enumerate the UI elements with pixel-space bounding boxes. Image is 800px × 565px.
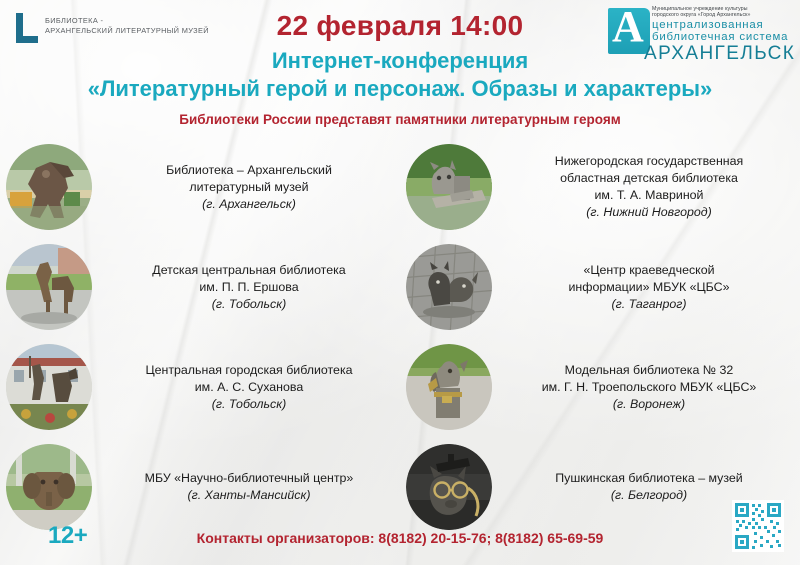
event-date-time: 22 февраля 14:00	[0, 10, 800, 42]
participant-name-line-2: им. Г. Н. Троепольского МБУК «ЦБС»	[504, 379, 794, 396]
participant-city: (г. Ханты-Мансийск)	[104, 487, 394, 504]
participant-caption: «Центр краеведческой информации» МБУК «Ц…	[498, 262, 800, 313]
participant-item: Библиотека – Архангельский литературный …	[0, 137, 400, 237]
qr-code-icon[interactable]	[732, 500, 784, 552]
participant-city: (г. Нижний Новгород)	[504, 204, 794, 221]
participant-name-line-1: Пушкинская библиотека – музей	[504, 470, 794, 487]
monument-elephant-thumb	[6, 444, 92, 530]
event-type-title: Интернет-конференция	[0, 48, 800, 74]
participant-name-line-2: им. П. П. Ершова	[104, 279, 394, 296]
monument-cat-scientist-thumb	[406, 444, 492, 530]
participant-name-line-1: Нижегородская государственная	[504, 153, 794, 170]
participant-name-line-1: Библиотека – Архангельский	[104, 162, 394, 179]
poster-canvas: БИБЛИОТЕКА - АРХАНГЕЛЬСКИЙ ЛИТЕРАТУРНЫЙ …	[0, 0, 800, 565]
participant-caption: Нижегородская государственная областная …	[498, 153, 800, 221]
participant-name-line-2: информации» МБУК «ЦБС»	[504, 279, 794, 296]
participant-city: (г. Тобольск)	[104, 296, 394, 313]
participant-caption: Пушкинская библиотека – музей (г. Белгор…	[498, 470, 800, 504]
participant-city: (г. Тобольск)	[104, 396, 394, 413]
participants-column-right: Нижегородская государственная областная …	[400, 137, 800, 537]
participant-caption: Библиотека – Архангельский литературный …	[98, 162, 400, 213]
participant-name-line-1: МБУ «Научно-библиотечный центр»	[104, 470, 394, 487]
organizer-contacts: Контакты организаторов: 8(8182) 20-15-76…	[0, 530, 800, 546]
participant-name-line-2: им. А. С. Суханова	[104, 379, 394, 396]
participant-caption: МБУ «Научно-библиотечный центр» (г. Хант…	[98, 470, 400, 504]
monument-warrior-thumb	[6, 344, 92, 430]
participant-item: «Центр краеведческой информации» МБУК «Ц…	[400, 237, 800, 337]
participants-grid: Библиотека – Архангельский литературный …	[0, 137, 800, 537]
participant-name-line-3: им. Т. А. Мавриной	[504, 187, 794, 204]
participant-name-line-2: областная детская библиотека	[504, 170, 794, 187]
participant-name-line-1: Модельная библиотека № 32	[504, 362, 794, 379]
participant-item: Детская центральная библиотека им. П. П.…	[0, 237, 400, 337]
participant-name-line-1: Центральная городская библиотека	[104, 362, 394, 379]
participant-item: Модельная библиотека № 32 им. Г. Н. Трое…	[400, 337, 800, 437]
monument-grey-wolf-thumb	[406, 144, 492, 230]
participant-caption: Центральная городская библиотека им. А. …	[98, 362, 400, 413]
participant-caption: Модельная библиотека № 32 им. Г. Н. Трое…	[498, 362, 800, 413]
monument-cat-mouse-thumb	[406, 244, 492, 330]
participant-name-line-2: литературный музей	[104, 179, 394, 196]
monument-gorilla-thumb	[6, 144, 92, 230]
participant-city: (г. Архангельск)	[104, 196, 394, 213]
participant-city: (г. Таганрог)	[504, 296, 794, 313]
participants-column-left: Библиотека – Архангельский литературный …	[0, 137, 400, 537]
participant-item: Нижегородская государственная областная …	[400, 137, 800, 237]
monument-dog-bim-thumb	[406, 344, 492, 430]
participant-city: (г. Воронеж)	[504, 396, 794, 413]
monument-ivan-horse-thumb	[6, 244, 92, 330]
event-theme-title: «Литературный герой и персонаж. Образы и…	[0, 76, 800, 102]
event-subtitle: Библиотеки России представят памятники л…	[0, 112, 800, 127]
participant-caption: Детская центральная библиотека им. П. П.…	[98, 262, 400, 313]
participant-name-line-1: «Центр краеведческой	[504, 262, 794, 279]
participant-item: Центральная городская библиотека им. А. …	[0, 337, 400, 437]
participant-name-line-1: Детская центральная библиотека	[104, 262, 394, 279]
